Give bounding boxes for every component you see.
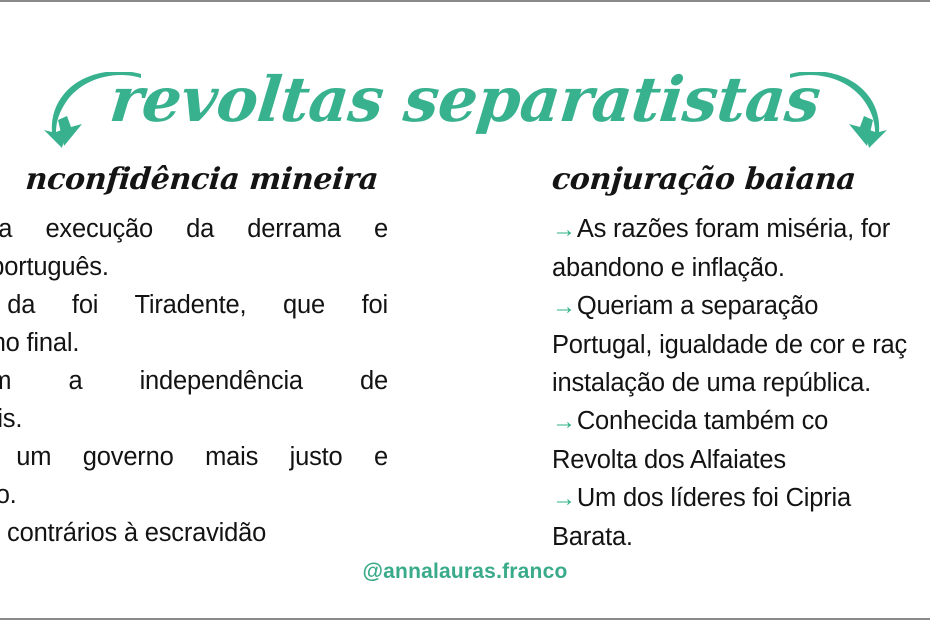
list-item: fendiam a independência de (0, 362, 388, 400)
list-item-line: As razões foram miséria, for (577, 215, 890, 243)
arrow-bullet-icon: → (552, 408, 577, 435)
list-item: ntra a execução da derrama e (0, 210, 388, 248)
author-handle: @annalauras.franco (0, 560, 930, 584)
bullet-list-right: →As razões foram miséria, for abandono e… (552, 210, 930, 556)
slide-canvas: revoltas separatistas nconfidência minei… (0, 0, 930, 620)
curved-arrow-down-right-icon (788, 72, 893, 152)
list-item-line: Queriam a separação (577, 292, 818, 320)
bullet-list-left: ntra a execução da derrama e mínio portu… (0, 210, 388, 552)
list-item-continuation: abandono e inflação. (552, 249, 930, 287)
title-band: revoltas separatistas (0, 54, 930, 154)
list-item: mínio português. (0, 248, 388, 286)
column-heading-right: conjuração baiana (550, 160, 930, 200)
list-item: utado no final. (0, 324, 388, 362)
column-inconfidencia-mineira: nconfidência mineira ntra a execução da … (0, 160, 388, 552)
list-item-continuation: Revolta dos Alfaiates (552, 441, 930, 479)
list-item: o eram contrários à escravidão (0, 514, 388, 552)
list-item-continuation: Barata. (552, 518, 930, 556)
list-item: s Gerais. (0, 400, 388, 438)
list-item: ocrático. (0, 476, 388, 514)
list-item: eriam um governo mais justo e (0, 438, 388, 476)
column-heading-left: nconfidência mineira (0, 160, 390, 200)
list-item: →As razões foram miséria, for (552, 210, 930, 249)
list-item: →Queriam a separação (552, 287, 930, 326)
arrow-bullet-icon: → (552, 293, 577, 320)
list-item-continuation: Portugal, igualdade de cor e raç (552, 326, 930, 364)
list-item-line: Conhecida também co (577, 407, 828, 435)
list-item: →Conhecida também co (552, 402, 930, 441)
column-conjuracao-baiana: conjuração baiana →As razões foram misér… (552, 160, 930, 556)
list-item-line: Um dos líderes foi Cipria (577, 484, 851, 512)
list-item: →Um dos líderes foi Cipria (552, 479, 930, 518)
arrow-bullet-icon: → (552, 485, 577, 512)
list-item: líder da foi Tiradente, que foi (0, 286, 388, 324)
list-item-continuation: instalação de uma república. (552, 364, 930, 402)
arrow-bullet-icon: → (552, 216, 577, 243)
